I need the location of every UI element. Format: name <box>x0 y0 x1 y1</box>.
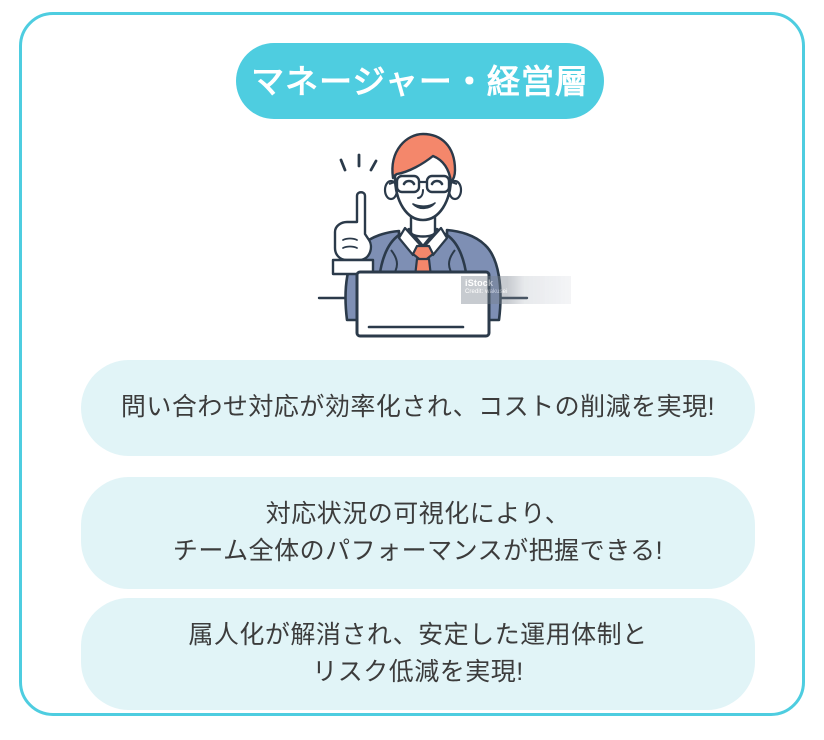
businessman-illustration: iStock Credit: wakusei <box>313 128 533 338</box>
benefit-line: チーム全体のパフォーマンスが把握できる! <box>173 533 663 571</box>
benefit-line: 問い合わせ対応が効率化され、コストの削減を実現! <box>121 389 715 427</box>
audience-title-pill: マネージャー・経営層 <box>236 43 604 119</box>
benefits-card: マネージャー・経営層 <box>19 12 805 716</box>
benefit-line: 属人化が解消され、安定した運用体制と <box>188 617 647 655</box>
benefit-line: 対応状況の可視化により、 <box>173 496 663 534</box>
benefit-text: 属人化が解消され、安定した運用体制と リスク低減を実現! <box>188 617 647 692</box>
benefit-text: 問い合わせ対応が効率化され、コストの削減を実現! <box>121 389 715 427</box>
benefit-pill-team-visibility: 対応状況の可視化により、 チーム全体のパフォーマンスが把握できる! <box>81 477 755 589</box>
benefit-text: 対応状況の可視化により、 チーム全体のパフォーマンスが把握できる! <box>173 496 663 571</box>
benefit-pill-risk-reduction: 属人化が解消され、安定した運用体制と リスク低減を実現! <box>81 598 755 710</box>
benefit-pill-cost-reduction: 問い合わせ対応が効率化され、コストの削減を実現! <box>81 360 755 456</box>
benefit-line: リスク低減を実現! <box>188 654 647 692</box>
page-title: マネージャー・経営層 <box>251 65 589 98</box>
